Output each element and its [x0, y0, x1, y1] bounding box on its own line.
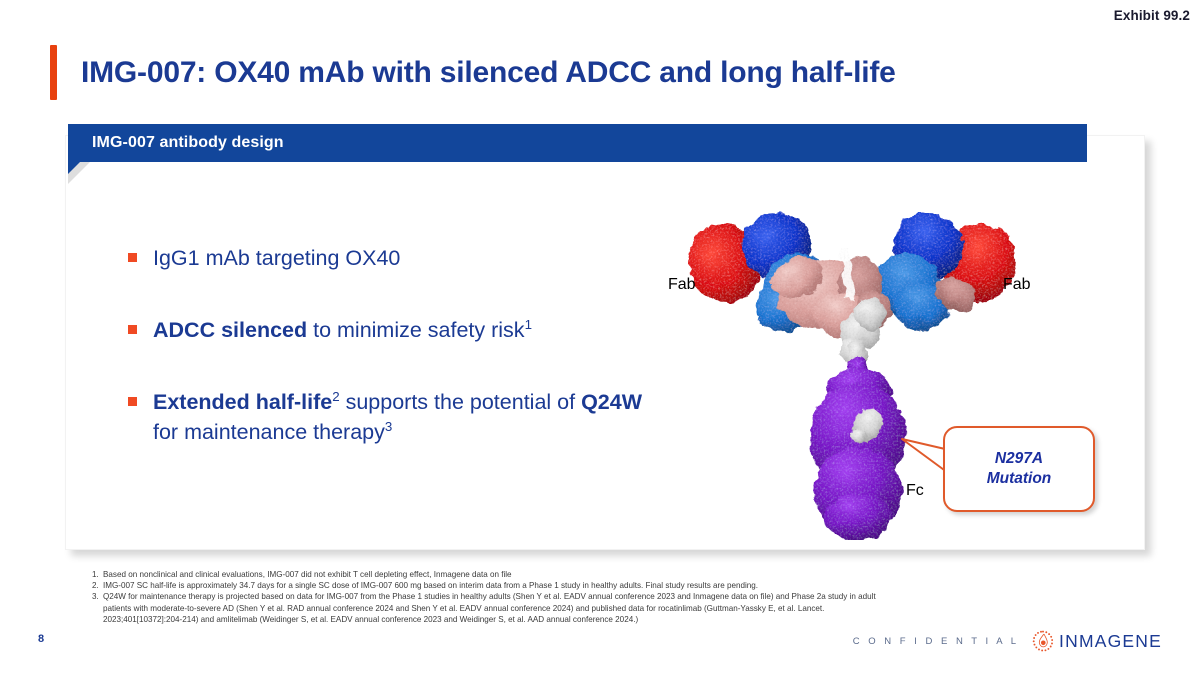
- footnote-text: Q24W for maintenance therapy is projecte…: [103, 591, 882, 625]
- callout-line-1: N297A: [995, 450, 1043, 467]
- footnote-text: Based on nonclinical and clinical evalua…: [103, 569, 882, 580]
- footer-brand-area: C O N F I D E N T I A L INMAGENE: [853, 630, 1162, 652]
- bullet-adcc-footnote-ref: 1: [525, 317, 532, 332]
- footnote-item: 2. IMG-007 SC half-life is approximately…: [92, 580, 882, 591]
- bullet-square-icon: [128, 325, 137, 334]
- footnote-number: 3.: [92, 591, 103, 625]
- bullet-halflife-rest: for maintenance therapy: [153, 420, 385, 444]
- bullet-item-halflife: Extended half-life2 supports the potenti…: [128, 387, 648, 447]
- label-fab-left: Fab: [668, 276, 696, 294]
- footnote-number: 2.: [92, 580, 103, 591]
- title-accent-bar: [50, 45, 57, 100]
- section-band-tail: [68, 162, 80, 174]
- bullet-list: IgG1 mAb targeting OX40 ADCC silenced to…: [128, 243, 648, 489]
- page-title: IMG-007: OX40 mAb with silenced ADCC and…: [81, 45, 896, 100]
- slide-title-row: IMG-007: OX40 mAb with silenced ADCC and…: [50, 45, 896, 100]
- footnote-item: 3. Q24W for maintenance therapy is proje…: [92, 591, 882, 625]
- bullet-square-icon: [128, 397, 137, 406]
- bullet-item-igg1: IgG1 mAb targeting OX40: [128, 243, 648, 273]
- section-header-band: IMG-007 antibody design: [68, 124, 1087, 162]
- bullet-halflife-mid: supports the potential of: [340, 390, 581, 414]
- bullet-text-adcc: ADCC silenced to minimize safety risk1: [153, 315, 532, 345]
- footnote-list: 1. Based on nonclinical and clinical eva…: [92, 569, 882, 625]
- bullet-adcc-bold: ADCC silenced: [153, 318, 307, 342]
- bullet-halflife-bold-2: Q24W: [581, 390, 642, 414]
- inmagene-logo-icon: [1032, 630, 1054, 652]
- bullet-item-adcc: ADCC silenced to minimize safety risk1: [128, 315, 648, 345]
- callout-text: N297A Mutation: [987, 449, 1052, 489]
- exhibit-number: Exhibit 99.2: [1114, 8, 1190, 23]
- page-number: 8: [38, 633, 44, 645]
- confidential-label: C O N F I D E N T I A L: [853, 636, 1019, 647]
- bullet-halflife-bold: Extended half-life: [153, 390, 332, 414]
- callout-n297a-mutation: N297A Mutation: [943, 426, 1095, 512]
- bullet-text-halflife: Extended half-life2 supports the potenti…: [153, 387, 648, 447]
- footnote-item: 1. Based on nonclinical and clinical eva…: [92, 569, 882, 580]
- bullet-square-icon: [128, 253, 137, 262]
- bullet-text-igg1: IgG1 mAb targeting OX40: [153, 243, 400, 273]
- bullet-igg1-text: IgG1 mAb targeting OX40: [153, 246, 400, 270]
- brand-lockup: INMAGENE: [1032, 630, 1162, 652]
- callout-line-2: Mutation: [987, 470, 1052, 487]
- bullet-halflife-footnote-ref-2: 3: [385, 419, 392, 434]
- section-header-label: IMG-007 antibody design: [92, 124, 284, 162]
- bullet-adcc-rest: to minimize safety risk: [307, 318, 524, 342]
- footnote-number: 1.: [92, 569, 103, 580]
- bullet-halflife-footnote-ref-1: 2: [332, 389, 339, 404]
- footnote-text: IMG-007 SC half-life is approximately 34…: [103, 580, 882, 591]
- brand-wordmark: INMAGENE: [1059, 631, 1162, 652]
- label-fab-right: Fab: [1003, 276, 1031, 294]
